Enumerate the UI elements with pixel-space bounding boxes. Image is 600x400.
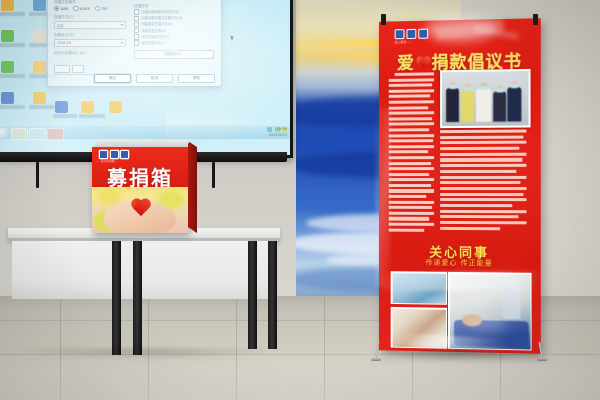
dialog-left-column: 浏览(B)... 压缩文件格式 RAR RAR5 ZIP 压缩方式(C) 标准 …: [54, 0, 126, 56]
taskbar[interactable]: 16:39 2015/5/15: [0, 125, 290, 139]
conference-table-apron: [12, 241, 276, 299]
donation-box-photo: [92, 187, 188, 233]
radio-rar5[interactable]: RAR5: [73, 6, 90, 11]
table-leg: [112, 241, 121, 355]
table-leg: [268, 241, 277, 349]
company-logo: [395, 29, 429, 40]
taskbar-item[interactable]: [47, 128, 64, 140]
option-lock-archive[interactable]: 锁定压缩文件(L): [134, 40, 214, 46]
radio-zip[interactable]: ZIP: [95, 6, 108, 11]
heart-icon: [416, 56, 431, 70]
mouse-cursor: [230, 35, 235, 42]
projected-desktop: 浏览(B)... 压缩文件格式 RAR RAR5 ZIP 压缩方式(C) 标准 …: [0, 0, 290, 155]
taskbar-item[interactable]: [29, 128, 46, 140]
banner-clip: [381, 14, 386, 25]
screen-hanger: [212, 162, 215, 188]
banner-mid-subtitle: 传递爱心 传正能量: [379, 257, 541, 269]
ok-button[interactable]: 确定: [94, 74, 131, 83]
format-radio-group[interactable]: RAR RAR5 ZIP: [54, 6, 126, 11]
projector-screen: 浏览(B)... 压缩文件格式 RAR RAR5 ZIP 压缩方式(C) 标准 …: [0, 0, 293, 158]
split-size-input[interactable]: [54, 65, 70, 73]
banner-panel: — 爱心捐款 — 爱捐款倡议书: [379, 18, 541, 354]
logo-square: [418, 29, 428, 39]
taskbar-clock[interactable]: 16:39 2015/5/15: [269, 127, 287, 138]
compression-method-label: 压缩方式(C): [54, 15, 126, 20]
app-icon[interactable]: [53, 101, 213, 123]
donation-box-front: — 爱心捐款箱 — 募捐箱: [92, 147, 188, 233]
clock-date: 2015/5/15: [269, 133, 287, 139]
table-leg: [248, 241, 257, 349]
screen-hanger: [36, 162, 39, 188]
split-unit-select[interactable]: [72, 65, 84, 73]
donation-box-side: [188, 141, 197, 233]
set-password-button[interactable]: 设置密码(P)...: [134, 50, 214, 59]
scene-root: 浏览(B)... 压缩文件格式 RAR RAR5 ZIP 压缩方式(C) 标准 …: [0, 0, 600, 400]
radio-rar[interactable]: RAR: [54, 6, 68, 11]
logo-square: [406, 29, 416, 39]
heart-icon: [130, 199, 152, 220]
help-button[interactable]: 帮助: [178, 74, 215, 83]
dictionary-size-label: 字典大小(D): [54, 33, 126, 38]
banner-group-photo: [440, 69, 530, 128]
taskbar-item[interactable]: [11, 128, 28, 140]
archive-format-label: 压缩文件格式: [54, 0, 126, 5]
dialog-footer: 确定 取消 帮助: [54, 74, 215, 83]
banner-body-text: [389, 72, 434, 239]
donation-box: — 爱心捐款箱 — 募捐箱: [92, 147, 188, 233]
winrar-dialog[interactable]: 浏览(B)... 压缩文件格式 RAR RAR5 ZIP 压缩方式(C) 标准 …: [47, 0, 222, 87]
table-shadow: [14, 349, 280, 359]
dialog-right-column: 更新方式(U) 添加并替换文件 压缩选项 压缩后删除原来的文件(E) 创建自解压…: [134, 0, 214, 59]
banner-title-prefix: 爱: [397, 54, 415, 74]
split-volume-label: 切分为分卷(V), 大小: [54, 51, 126, 56]
logo-square: [395, 29, 405, 39]
banner-logo-tagline: — 爱心捐款 —: [391, 40, 411, 44]
split-volume-control[interactable]: [54, 65, 84, 73]
banner-shadow: [378, 350, 546, 362]
dictionary-size-select[interactable]: 4096 KB: [54, 39, 126, 47]
table-leg: [133, 241, 142, 355]
logo-square: [120, 150, 129, 159]
banner-clip: [533, 14, 538, 25]
banner-body-text-2: [440, 130, 526, 239]
start-button-icon[interactable]: [0, 128, 8, 138]
cancel-button[interactable]: 取消: [136, 74, 173, 83]
compression-method-select[interactable]: 标准: [54, 21, 126, 29]
rollup-banner: — 爱心捐款 — 爱捐款倡议书: [370, 14, 548, 352]
